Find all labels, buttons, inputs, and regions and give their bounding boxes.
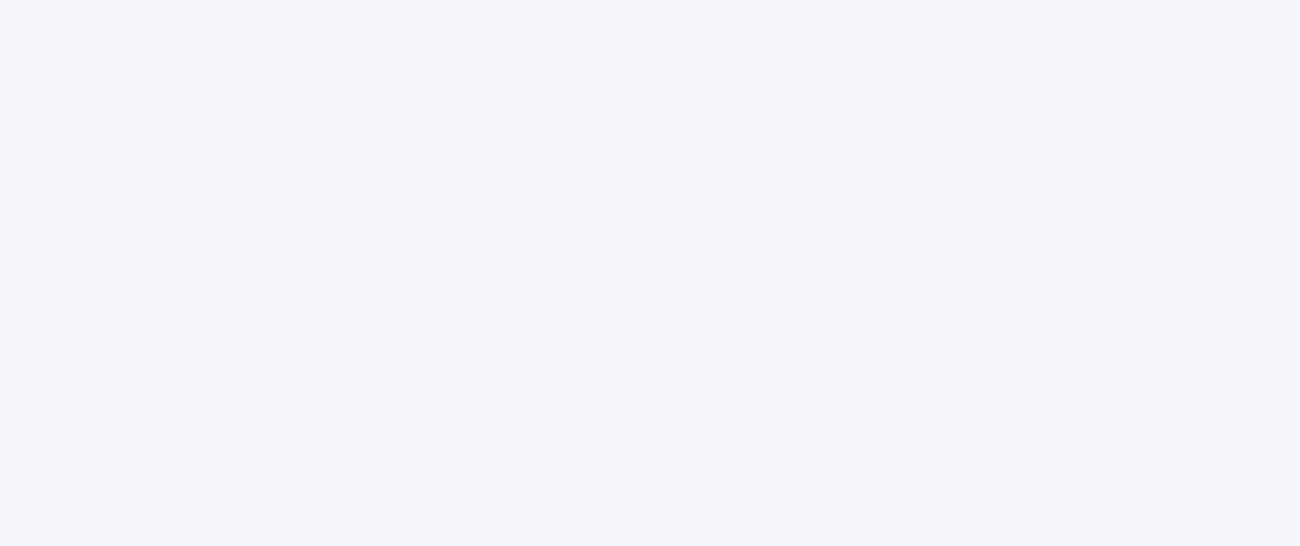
symptoms-infographic xyxy=(0,0,1300,546)
